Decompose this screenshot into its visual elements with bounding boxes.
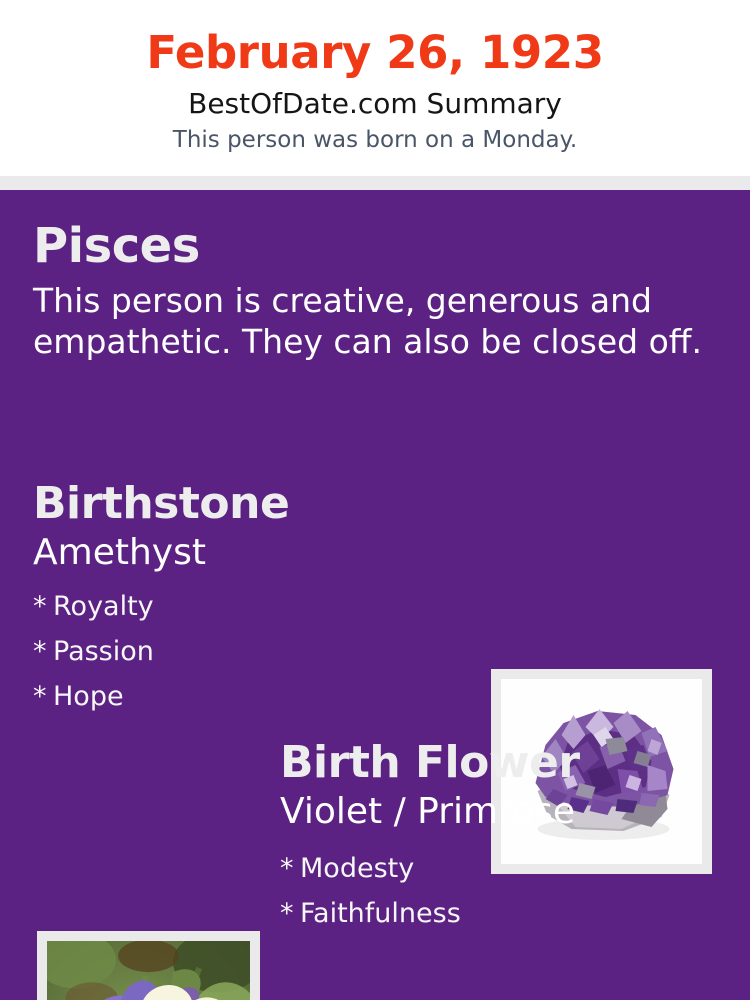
summary-page: February 26, 1923 BestOfDate.com Summary… (0, 0, 750, 1000)
birth-flower-photo-frame (37, 931, 260, 1000)
birth-flower-trait-list: *Modesty *Faithfulness (280, 834, 740, 936)
list-item: *Modesty (280, 846, 740, 891)
list-item: *Passion (33, 629, 473, 674)
zodiac-section: Pisces This person is creative, generous… (33, 218, 717, 362)
birthstone-heading: Birthstone (33, 478, 473, 530)
bullet-star-icon: * (33, 674, 53, 719)
bullet-star-icon: * (280, 891, 300, 936)
zodiac-sign-title: Pisces (33, 218, 717, 274)
birth-flower-trait-label: Modesty (300, 853, 414, 884)
birth-flower-heading: Birth Flower (280, 737, 740, 789)
zodiac-description: This person is creative, generous and em… (33, 274, 705, 362)
header-divider (0, 176, 750, 190)
birthstone-trait-list: *Royalty *Passion *Hope (33, 575, 473, 719)
birthstone-name: Amethyst (33, 530, 473, 575)
page-title-date: February 26, 1923 (0, 0, 750, 82)
birthstone-trait-label: Hope (53, 681, 124, 712)
bullet-star-icon: * (280, 846, 300, 891)
birth-flower-section: Birth Flower Violet / Primrose *Modesty … (280, 737, 740, 936)
birth-flower-trait-label: Faithfulness (300, 898, 461, 929)
list-item: *Royalty (33, 584, 473, 629)
summary-body: Pisces This person is creative, generous… (0, 190, 750, 1000)
bullet-star-icon: * (33, 584, 53, 629)
birth-weekday-note: This person was born on a Monday. (0, 122, 750, 155)
violet-primrose-flower-icon (47, 941, 250, 1000)
list-item: *Hope (33, 674, 473, 719)
birthstone-trait-label: Royalty (53, 591, 154, 622)
birth-flower-name: Violet / Primrose (280, 789, 740, 834)
birthstone-trait-label: Passion (53, 636, 154, 667)
page-header: February 26, 1923 BestOfDate.com Summary… (0, 0, 750, 176)
list-item: *Faithfulness (280, 891, 740, 936)
site-name-subtitle: BestOfDate.com Summary (0, 82, 750, 122)
birthstone-section: Birthstone Amethyst *Royalty *Passion *H… (33, 478, 473, 719)
bullet-star-icon: * (33, 629, 53, 674)
birth-flower-photo (47, 941, 250, 1000)
